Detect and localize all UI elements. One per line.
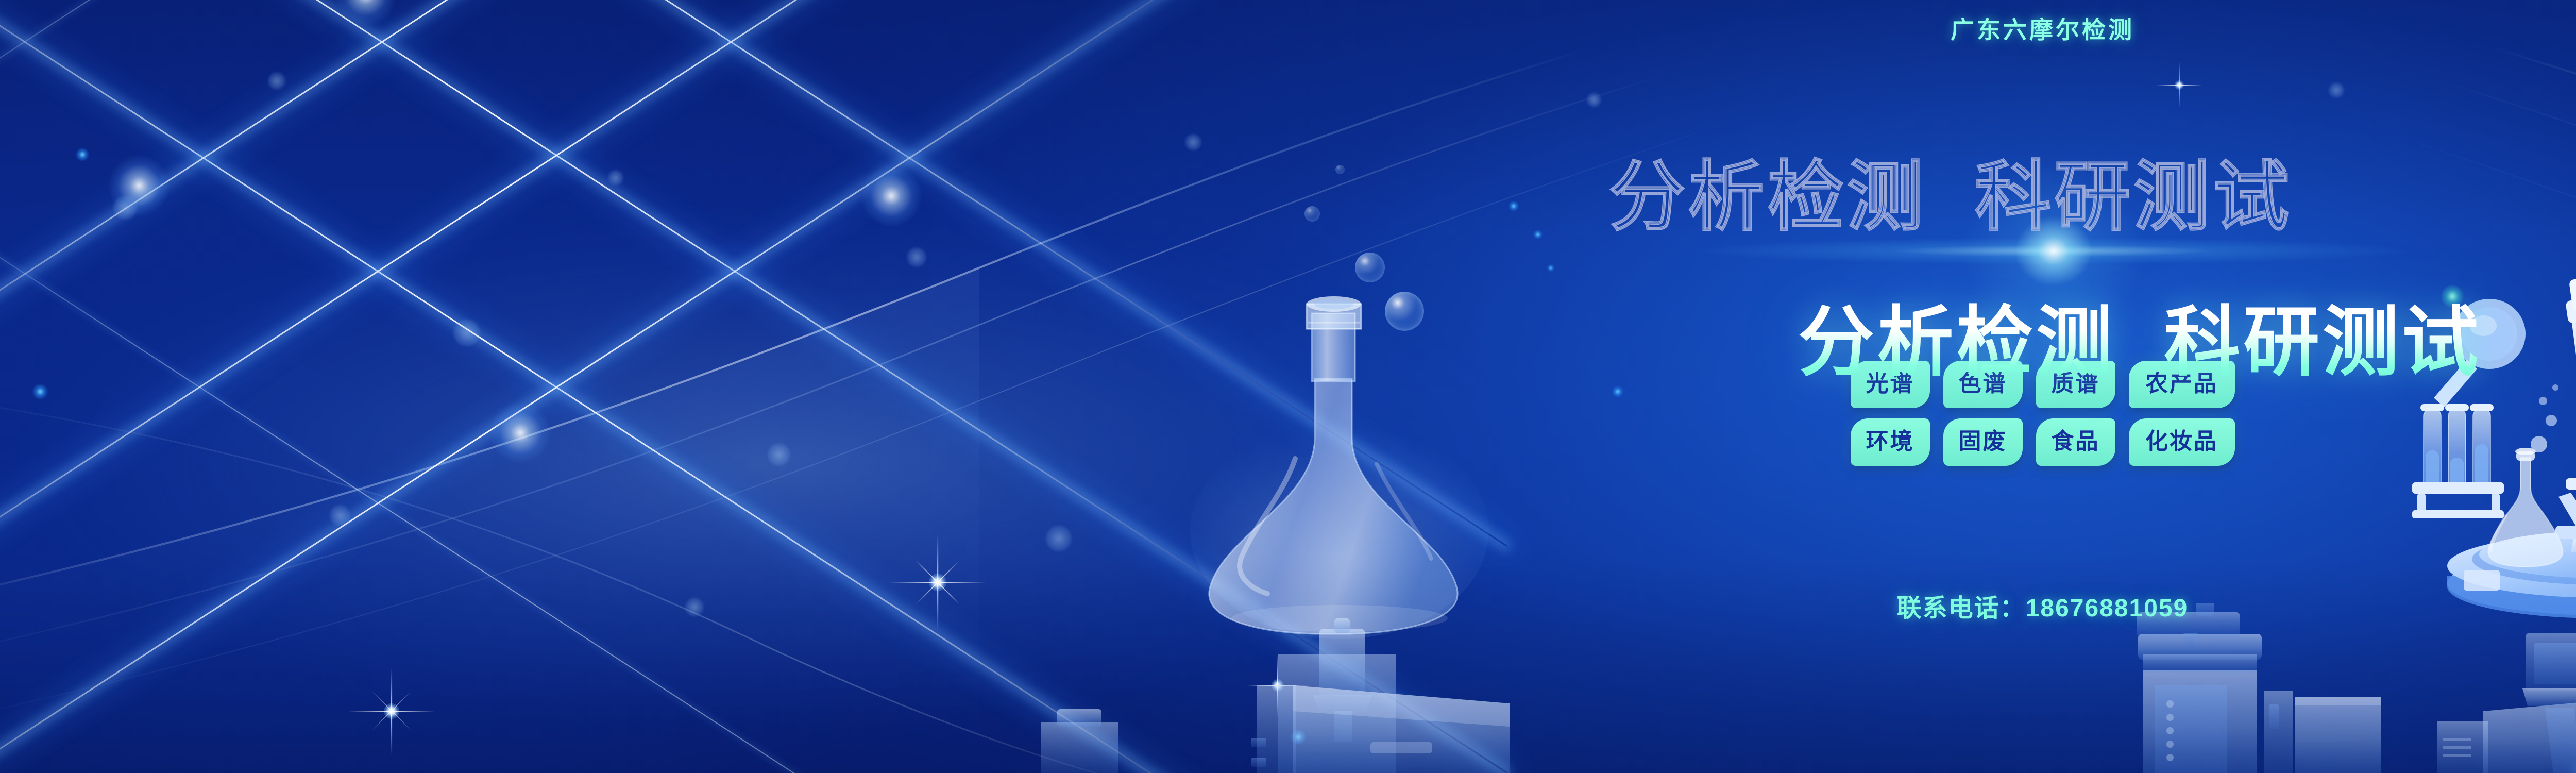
headline-wrap: 分析检测 科研测试 分析检测 科研测试 bbox=[0, 152, 2576, 255]
service-tag[interactable]: 环境 bbox=[1851, 418, 1930, 466]
service-tag[interactable]: 固废 bbox=[1943, 418, 2023, 466]
company-name: 广东六摩尔检测 bbox=[0, 11, 2576, 45]
contact-phone[interactable]: 联系电话：18676881059 bbox=[0, 587, 2576, 624]
headline-main-layer: 分析检测 科研测试 bbox=[1798, 300, 2481, 385]
banner-content: 广东六摩尔检测 分析检测 科研测试 分析检测 科研测试 光谱 色谱 质谱 农产品… bbox=[0, 0, 2576, 773]
service-tag-row-2: 环境 固废 食品 化妆品 bbox=[1851, 418, 2235, 466]
service-tag[interactable]: 化妆品 bbox=[2129, 418, 2235, 466]
headline-shadow-layer: 分析检测 科研测试 bbox=[1609, 159, 2292, 236]
promo-banner: 广东六摩尔检测 分析检测 科研测试 分析检测 科研测试 光谱 色谱 质谱 农产品… bbox=[0, 0, 2576, 773]
service-tag[interactable]: 食品 bbox=[2036, 418, 2115, 466]
